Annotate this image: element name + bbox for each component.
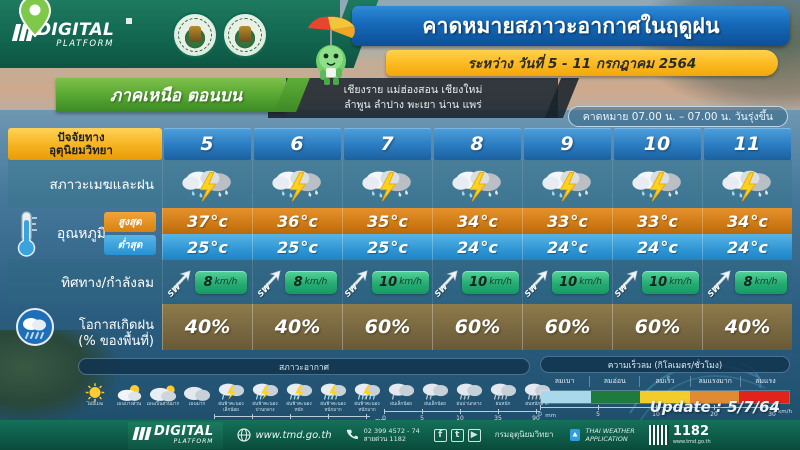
- wind-direction: SW: [616, 268, 640, 296]
- wind-legend-title-text: ความเร็วลม (กิโลเมตร/ชั่วโมง): [608, 358, 722, 372]
- qr-label: www.tmd.go.th: [673, 438, 711, 446]
- rain-legend-icon: [418, 380, 452, 402]
- wind-direction: SW: [709, 268, 733, 296]
- sky-cell: [702, 160, 792, 208]
- temp-min-tag-text: ต่ำสุด: [118, 238, 143, 253]
- rain-cloud-badge-icon: [16, 308, 54, 346]
- scale-tick: [214, 414, 215, 419]
- wind-direction: SW: [259, 268, 283, 296]
- temp-unit: °c: [300, 238, 317, 257]
- day-cell: 8: [434, 128, 521, 160]
- thunderstorm-legend-icon: [248, 380, 282, 402]
- wind-row-label-text: ทิศทาง/กำลังลม: [61, 271, 154, 293]
- phone-icon: [346, 428, 360, 442]
- thunderstorm-legend-icon: [282, 380, 316, 402]
- table-header-row: ปัจจัยทาง อุตุนิยมวิทยา 567891011: [8, 128, 792, 160]
- temp-max-cells: 37°c36°c35°c34°c33°c33°c34°c: [162, 208, 792, 234]
- twitter-icon[interactable]: t: [451, 429, 464, 442]
- day-cell: 9: [524, 128, 611, 160]
- temperature-row-label: อุณหภูมิ สูงสุด ต่ำสุด: [8, 208, 162, 260]
- temp-unit: °c: [570, 238, 587, 257]
- rain-chance-value: 40%: [725, 316, 770, 338]
- temp-max-cell: 33°c: [522, 208, 612, 234]
- scale-tick: [252, 414, 253, 419]
- rain-chance-cell: 60%: [342, 304, 432, 350]
- wind-direction: SW: [169, 268, 193, 296]
- thermometer-icon: [12, 210, 42, 258]
- hotline-number: 1182: [673, 425, 711, 438]
- rain-chance-cell: 60%: [612, 304, 702, 350]
- temp-min-value: 25°c: [187, 238, 228, 257]
- wind-cell: SW10km/h: [432, 260, 522, 304]
- temperature-tags: สูงสุด ต่ำสุด: [104, 212, 156, 258]
- rain-chance-value: 60%: [365, 316, 410, 338]
- rain-chance-value: 60%: [635, 316, 680, 338]
- wind-speed-value: 10: [649, 275, 667, 290]
- storm-legend-label-2: หนักมาก: [316, 408, 350, 414]
- mascot-icon: [300, 6, 362, 86]
- temp-max-cell: 34°c: [702, 208, 792, 234]
- temp-max-cell: 37°c: [162, 208, 252, 234]
- wind-speed-badge: 10km/h: [552, 271, 609, 294]
- main-title: คาดหมายสภาวะอากาศในฤดูฝน: [352, 6, 790, 46]
- footer-logo-word: DIGITAL: [154, 425, 213, 438]
- wind-speed-value: 10: [469, 275, 487, 290]
- scale-tick: [540, 405, 541, 410]
- wind-speed-value: 10: [379, 275, 397, 290]
- rain-legend-item: ฝนปานกลาง: [452, 380, 486, 408]
- rain-legend-label: ฝนเล็กน้อย: [418, 402, 452, 408]
- wind-cell: SW10km/h: [522, 260, 612, 304]
- temp-unit: °c: [390, 212, 407, 231]
- storm-legend-label-2: หนัก: [282, 408, 316, 414]
- wind-speed-unit: km/h: [305, 277, 328, 287]
- wind-cell: SW8km/h: [702, 260, 792, 304]
- wind-color-segment: [591, 391, 641, 403]
- rain-chance-cell: 40%: [702, 304, 792, 350]
- temp-min-cell: 25°c: [162, 234, 252, 260]
- wind-category-label: ลมอ่อน: [590, 376, 640, 387]
- storm-legend-item: ฝนฟ้าคะนองหนักมาก: [350, 380, 384, 413]
- website-text: www.tmd.go.th: [255, 430, 331, 441]
- sun-icon: [78, 380, 112, 402]
- wind-speed-badge: 10km/h: [642, 271, 699, 294]
- app-line-2: APPLICATION: [586, 435, 635, 443]
- temp-min-value: 24°c: [547, 238, 588, 257]
- temp-unit: °c: [390, 238, 407, 257]
- storm-legend-label-1: ฝนฟ้าคะนอง: [316, 402, 350, 408]
- temp-max-value: 33°c: [637, 212, 678, 231]
- day-number: 9: [560, 133, 573, 155]
- temperature-rows: อุณหภูมิ สูงสุด ต่ำสุด 37°c36°c35°c34°c3…: [8, 208, 792, 260]
- rain-chance-cell: 40%: [252, 304, 342, 350]
- day-cell: 5: [164, 128, 251, 160]
- storm-legend-label-1: ฝนฟ้าคะนอง: [350, 402, 384, 408]
- rain-legend-icon: [452, 380, 486, 402]
- day-number: 7: [380, 133, 393, 155]
- wind-speed-badge: 10km/h: [372, 271, 429, 294]
- cloud-legend-label: เมฆบางส่วน: [112, 402, 146, 408]
- forecast-window-pill: คาดหมาย 07.00 น. – 07.00 น. วันรุ่งขึ้น: [568, 106, 788, 127]
- wind-direction: SW: [436, 268, 460, 296]
- sky-cell: [162, 160, 252, 208]
- wind-category-label: ลมเร็ว: [640, 376, 690, 387]
- tmd-seal-icon: [222, 12, 268, 58]
- footer-phone: 02 399 4572 - 74 สายด่วน 1182: [346, 427, 420, 443]
- rain-row-label-line1: โอกาสเกิดฝน: [79, 318, 154, 334]
- temp-max-value: 33°c: [547, 212, 588, 231]
- rain-chance-cells: 40%40%60%60%60%60%40%: [162, 304, 792, 350]
- footer-qr-hotline: 1182 www.tmd.go.th: [649, 425, 711, 446]
- storm-legend-item: ฝนฟ้าคะนองหนักมาก: [316, 380, 350, 413]
- wind-cell: SW10km/h: [342, 260, 432, 304]
- temp-min-cell: 24°c: [702, 234, 792, 260]
- update-timestamp: Update : 5/7/64: [650, 398, 780, 416]
- thunderstorm-rain-icon: [631, 165, 685, 203]
- org-name: กรมอุตุนิยมวิทยา: [495, 431, 554, 439]
- wind-category-label: ลมเบา: [540, 376, 590, 387]
- day-number: 8: [470, 133, 483, 155]
- wind-speed-unit: km/h: [755, 277, 778, 287]
- rain-chance-value: 60%: [455, 316, 500, 338]
- temperature-label-text: อุณหภูมิ: [57, 223, 106, 245]
- footer-logo: DIGITAL PLATFORM: [128, 422, 223, 449]
- thunderstorm-rain-icon: [721, 165, 775, 203]
- rain-row-label-line2: (% ของพื้นที่): [78, 334, 154, 350]
- weather-forecast-infographic: DIGITAL PLATFORM คาดหมายสภาวะอากาศในฤดูฝ…: [0, 0, 800, 450]
- temp-unit: °c: [300, 212, 317, 231]
- rain-legend-label: ฝนเล็กน้อย: [384, 402, 418, 408]
- temp-min-tag: ต่ำสุด: [104, 235, 156, 255]
- wind-cell: SW8km/h: [162, 260, 252, 304]
- day-cell: 7: [344, 128, 431, 160]
- footer-app[interactable]: THAI WEATHER APPLICATION: [568, 427, 635, 443]
- scale-tick: [598, 405, 599, 410]
- temp-max-value: 34°c: [457, 212, 498, 231]
- rain-legend-item: ฝนหนัก: [486, 380, 520, 408]
- hotline-text: สายด่วน 1182: [364, 435, 420, 443]
- wind-speed-unit: km/h: [579, 277, 602, 287]
- scale-value: 5: [596, 411, 600, 418]
- logo-accent-dot: [126, 18, 132, 24]
- scale-tick: [384, 409, 385, 414]
- sun-cloud-icon: [112, 380, 146, 402]
- day-number: 10: [644, 133, 670, 155]
- storm-legend-label-1: ฝนฟ้าคะนอง: [248, 402, 282, 408]
- temp-max-value: 35°c: [367, 212, 408, 231]
- day-number: 6: [290, 133, 303, 155]
- storm-legend-label-1: ฝนฟ้าคะนอง: [282, 402, 316, 408]
- wind-row: ทิศทาง/กำลังลม SW8km/hSW8km/hSW10km/hSW1…: [8, 260, 792, 304]
- sky-row-label: สภาวะเมฆและฝน: [8, 160, 162, 208]
- scale-tick: [422, 409, 423, 414]
- sky-condition-row: สภาวะเมฆและฝน: [8, 160, 792, 208]
- wind-speed-value: 8: [744, 275, 753, 290]
- province-line-1: เชียงราย แม่ฮ่องสอน เชียงใหม่: [344, 83, 483, 98]
- rain-chance-cell: 40%: [162, 304, 252, 350]
- day-cell: 10: [614, 128, 701, 160]
- wind-category-labels: ลมเบาลมอ่อนลมเร็วลมแรงมากลมแรง: [540, 376, 790, 387]
- wind-cell: SW8km/h: [252, 260, 342, 304]
- temp-min-cell: 24°c: [612, 234, 702, 260]
- sky-cell: [342, 160, 432, 208]
- temp-min-cell: 24°c: [432, 234, 522, 260]
- storm-legend-group: ฝนฟ้าคะนองเล็กน้อยฝนฟ้าคะนองปานกลางฝนฟ้า…: [214, 380, 384, 413]
- globe-icon: [237, 428, 251, 442]
- rain-legend-item: ฝนเล็กน้อย: [384, 380, 418, 408]
- wind-cell: SW10km/h: [612, 260, 702, 304]
- wind-color-segment: [541, 391, 591, 403]
- cloud-legend-label: ไม่มีเมฆ: [78, 402, 112, 408]
- rain-legend-item: ฝนเล็กน้อย: [418, 380, 452, 408]
- temp-max-cell: 33°c: [612, 208, 702, 234]
- rain-chance-cell: 60%: [432, 304, 522, 350]
- sky-cell: [522, 160, 612, 208]
- cloud-legend-label: เมฆเป็นส่วนมาก: [146, 402, 180, 408]
- temp-min-row: 25°c25°c25°c24°c24°c24°c24°c: [162, 234, 792, 260]
- storm-legend-item: ฝนฟ้าคะนองหนัก: [282, 380, 316, 413]
- day-cell: 11: [704, 128, 791, 160]
- temp-unit: °c: [660, 238, 677, 257]
- region-name: ภาคเหนือ ตอนบน: [110, 82, 242, 109]
- temp-min-cell: 25°c: [342, 234, 432, 260]
- temp-max-row: 37°c36°c35°c34°c33°c33°c34°c: [162, 208, 792, 234]
- temp-min-cell: 24°c: [522, 234, 612, 260]
- wind-speed-unit: km/h: [215, 277, 238, 287]
- temp-min-cells: 25°c25°c25°c24°c24°c24°c24°c: [162, 234, 792, 260]
- temp-min-value: 24°c: [457, 238, 498, 257]
- day-header-cells: 567891011: [162, 128, 792, 160]
- location-pin-icon: [18, 0, 52, 38]
- day-number: 11: [734, 133, 760, 155]
- footer-bar: DIGITAL PLATFORM www.tmd.go.th 02 399 45…: [0, 420, 800, 450]
- temp-unit: °c: [210, 212, 227, 231]
- wind-cells: SW8km/hSW8km/hSW10km/hSW10km/hSW10km/hSW…: [162, 260, 792, 304]
- temp-min-value: 25°c: [367, 238, 408, 257]
- sky-legend-title-text: สภาวะอากาศ: [279, 360, 329, 374]
- cloud-legend-label: เมฆมาก: [180, 402, 214, 408]
- rain-chance-row: โอกาสเกิดฝน (% ของพื้นที่) 40%40%60%60%6…: [8, 304, 792, 350]
- sky-legend: สภาวะอากาศ ไม่มีเมฆเมฆบางส่วนเมฆเป็นส่วน…: [78, 358, 530, 420]
- scale-tick: [290, 414, 291, 419]
- rain-chance-cell: 60%: [522, 304, 612, 350]
- thunderstorm-rain-icon: [361, 165, 415, 203]
- thunderstorm-rain-icon: [181, 165, 235, 203]
- cloud-sun-icon: [146, 380, 180, 402]
- wind-speed-value: 10: [559, 275, 577, 290]
- temp-max-value: 37°c: [187, 212, 228, 231]
- wind-speed-badge: 8km/h: [735, 271, 787, 294]
- storm-legend-label-2: เล็กน้อย: [214, 408, 248, 414]
- wind-speed-value: 8: [204, 275, 213, 290]
- rain-chance-value: 60%: [545, 316, 590, 338]
- storm-legend-label-1: ฝนฟ้าคะนอง: [214, 402, 248, 408]
- sky-legend-title: สภาวะอากาศ: [78, 358, 530, 375]
- thunderstorm-legend-icon: [316, 380, 350, 402]
- storm-legend-label-2: หนักมาก: [350, 408, 384, 414]
- title-banner: คาดหมายสภาวะอากาศในฤดูฝน ระหว่าง วันที่ …: [352, 6, 790, 76]
- temp-max-tag: สูงสุด: [104, 212, 156, 232]
- day-cell: 6: [254, 128, 341, 160]
- wind-speed-badge: 10km/h: [462, 271, 519, 294]
- wind-category-label: ลมแรง: [741, 376, 790, 387]
- temp-max-value: 36°c: [277, 212, 318, 231]
- youtube-icon[interactable]: ▶: [468, 429, 481, 442]
- sky-cell: [432, 160, 522, 208]
- forecast-table: ปัจจัยทาง อุตุนิยมวิทยา 567891011 สภาวะเ…: [8, 128, 792, 354]
- wind-speed-badge: 8km/h: [285, 271, 337, 294]
- date-range-text: ระหว่าง วันที่ 5 - 11 กรกฎาคม 2564: [468, 52, 697, 74]
- wind-speed-unit: km/h: [489, 277, 512, 287]
- thunderstorm-legend-icon: [350, 380, 384, 402]
- header-label-line2: อุตุนิยมวิทยา: [49, 144, 113, 157]
- footer-logo-bars-icon: [134, 427, 150, 440]
- thunderstorm-rain-icon: [451, 165, 505, 203]
- main-title-text: คาดหมายสภาวะอากาศในฤดูฝน: [422, 10, 719, 43]
- storm-legend-item: ฝนฟ้าคะนองเล็กน้อย: [214, 380, 248, 413]
- temp-unit: °c: [570, 212, 587, 231]
- scale-tick: [366, 414, 367, 419]
- temp-unit: °c: [210, 238, 227, 257]
- temp-unit: °c: [750, 238, 767, 257]
- wind-speed-unit: km/h: [399, 277, 422, 287]
- sky-cell: [612, 160, 702, 208]
- sky-icon-cells: [162, 160, 792, 208]
- rain-legend-group: ฝนเล็กน้อยฝนเล็กน้อยฝนปานกลางฝนหนักฝนหนั…: [384, 380, 554, 408]
- sky-cell: [252, 160, 342, 208]
- rain-legend-label: ฝนหนัก: [486, 402, 520, 408]
- date-range-banner: ระหว่าง วันที่ 5 - 11 กรกฎาคม 2564: [386, 50, 778, 76]
- qr-code-icon: [649, 425, 669, 445]
- temp-min-value: 25°c: [277, 238, 318, 257]
- rain-legend-label: ฝนปานกลาง: [452, 402, 486, 408]
- temp-unit: °c: [480, 212, 497, 231]
- wind-speed-unit: km/h: [669, 277, 692, 287]
- forecast-window-text: คาดหมาย 07.00 น. – 07.00 น. วันรุ่งขึ้น: [583, 108, 773, 125]
- temp-max-value: 34°c: [727, 212, 768, 231]
- temp-unit: °c: [660, 212, 677, 231]
- header-label-cell: ปัจจัยทาง อุตุนิยมวิทยา: [8, 128, 162, 160]
- temp-max-tag-text: สูงสุด: [118, 215, 142, 230]
- storm-legend-item: ฝนฟ้าคะนองปานกลาง: [248, 380, 282, 413]
- scale-tick: [498, 409, 499, 414]
- sky-row-label-text: สภาวะเมฆและฝน: [50, 173, 154, 195]
- rain-row-label: โอกาสเกิดฝน (% ของพื้นที่): [8, 304, 162, 350]
- temp-max-cell: 35°c: [342, 208, 432, 234]
- region-ribbon: ภาคเหนือ ตอนบน: [56, 78, 286, 112]
- temp-max-cell: 34°c: [432, 208, 522, 234]
- garuda-seal-icon: [172, 12, 218, 58]
- temp-min-value: 24°c: [727, 238, 768, 257]
- wind-direction: SW: [346, 268, 370, 296]
- scale-value: 0: [538, 411, 542, 418]
- thunderstorm-legend-icon: [214, 380, 248, 402]
- footer-social[interactable]: f t ▶: [434, 429, 481, 442]
- wind-speed-badge: 8km/h: [195, 271, 247, 294]
- wind-direction: SW: [526, 268, 550, 296]
- rain-legend-icon: [486, 380, 520, 402]
- wind-legend-title: ความเร็วลม (กิโลเมตร/ชั่วโมง): [540, 356, 790, 373]
- footer-logo-subword: PLATFORM: [154, 438, 213, 446]
- temp-min-value: 24°c: [637, 238, 678, 257]
- scale-tick: [536, 409, 537, 414]
- wind-speed-value: 8: [294, 275, 303, 290]
- scale-unit: km/h: [778, 409, 792, 415]
- temp-min-cell: 25°c: [252, 234, 342, 260]
- footer-org: กรมอุตุนิยมวิทยา: [495, 431, 554, 439]
- rain-chance-value: 40%: [275, 316, 320, 338]
- facebook-icon[interactable]: f: [434, 429, 447, 442]
- rain-legend-icon: [384, 380, 418, 402]
- rain-chance-value: 40%: [185, 316, 230, 338]
- logo-subword: PLATFORM: [37, 39, 114, 50]
- temp-max-cell: 36°c: [252, 208, 342, 234]
- day-number: 5: [200, 133, 213, 155]
- app-line-1: THAI WEATHER: [586, 427, 635, 435]
- wind-category-label: ลมแรงมาก: [691, 376, 741, 387]
- footer-website[interactable]: www.tmd.go.th: [237, 428, 331, 442]
- province-line-2: ลำพูน ลำปาง พะเยา น่าน แพร่: [344, 98, 482, 113]
- thunderstorm-rain-icon: [271, 165, 325, 203]
- app-icon: [568, 428, 582, 442]
- thunderstorm-rain-icon: [541, 165, 595, 203]
- temp-unit: °c: [480, 238, 497, 257]
- cloud-icon: [180, 380, 214, 402]
- temp-unit: °c: [750, 212, 767, 231]
- wind-row-label: ทิศทาง/กำลังลม: [8, 260, 162, 304]
- scale-tick: [460, 409, 461, 414]
- scale-tick: [328, 414, 329, 419]
- phone-number: 02 399 4572 - 74: [364, 427, 420, 435]
- storm-legend-label-2: ปานกลาง: [248, 408, 282, 414]
